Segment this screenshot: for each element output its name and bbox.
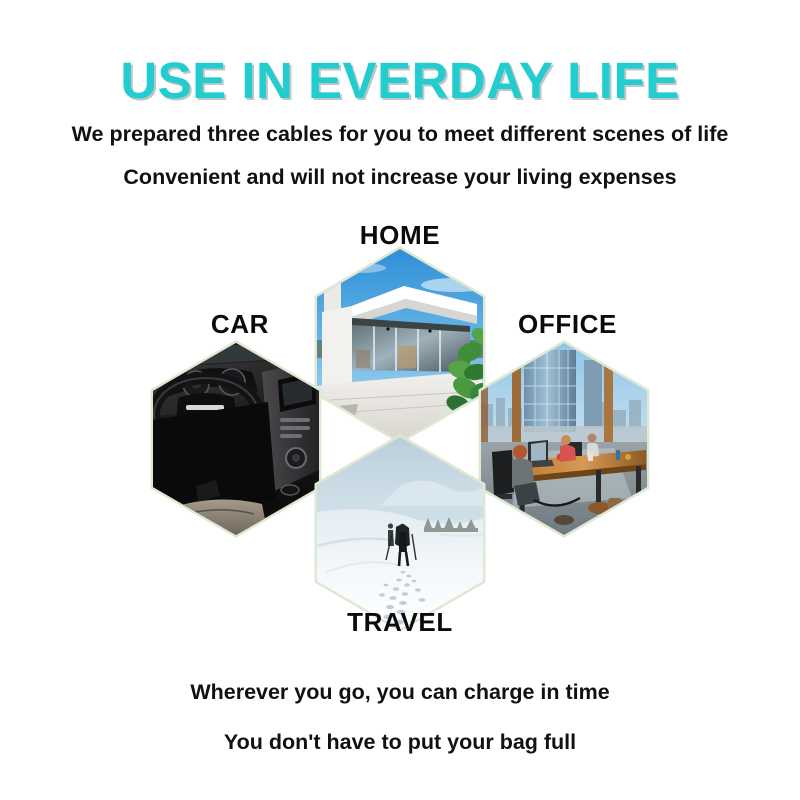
home-foliage [444, 325, 494, 420]
travel-footprints [379, 571, 425, 625]
page-title: USE IN EVERDAY LIFE [0, 0, 800, 108]
hexagon-label-office: OFFICE [470, 309, 665, 340]
office-worker-2 [560, 435, 576, 462]
office-worker-3 [587, 434, 599, 458]
hexagon-car-image [153, 343, 319, 535]
footer-line-1: Wherever you go, you can charge in time [0, 682, 800, 704]
hexagon-car-border [153, 343, 319, 535]
hexagon-office[interactable] [481, 343, 647, 535]
hexagon-office-border [481, 343, 647, 535]
promo-banner: USE IN EVERDAY LIFE We prepared three ca… [0, 0, 800, 800]
subtitle-line-1: We prepared three cables for you to meet… [0, 124, 800, 146]
travel-companion [388, 523, 394, 546]
travel-hiker [386, 524, 416, 566]
hexagon-home-border [317, 249, 483, 441]
travel-treeline [424, 517, 478, 532]
hexagon-car[interactable] [153, 343, 319, 535]
hexagon-home[interactable] [317, 249, 494, 441]
subtitle-block: We prepared three cables for you to meet… [0, 124, 800, 189]
hexagon-travel-border [317, 437, 483, 629]
hexagon-travel[interactable] [317, 437, 483, 629]
hexagon-travel-image [317, 437, 483, 629]
steering-wheel [154, 378, 258, 450]
office-worker-1 [492, 445, 540, 506]
footer-line-2: You don't have to put your bag full [0, 732, 800, 754]
hexagon-home-image [317, 249, 494, 441]
hexagon-label-travel: TRAVEL [0, 607, 800, 638]
hexagon-label-car: CAR [150, 309, 330, 340]
subtitle-line-2: Convenient and will not increase your li… [0, 167, 800, 189]
hexagon-office-image [481, 343, 647, 535]
header: USE IN EVERDAY LIFE We prepared three ca… [0, 0, 800, 211]
footer: Wherever you go, you can charge in time … [0, 682, 800, 781]
hexagon-label-home: HOME [0, 220, 800, 251]
